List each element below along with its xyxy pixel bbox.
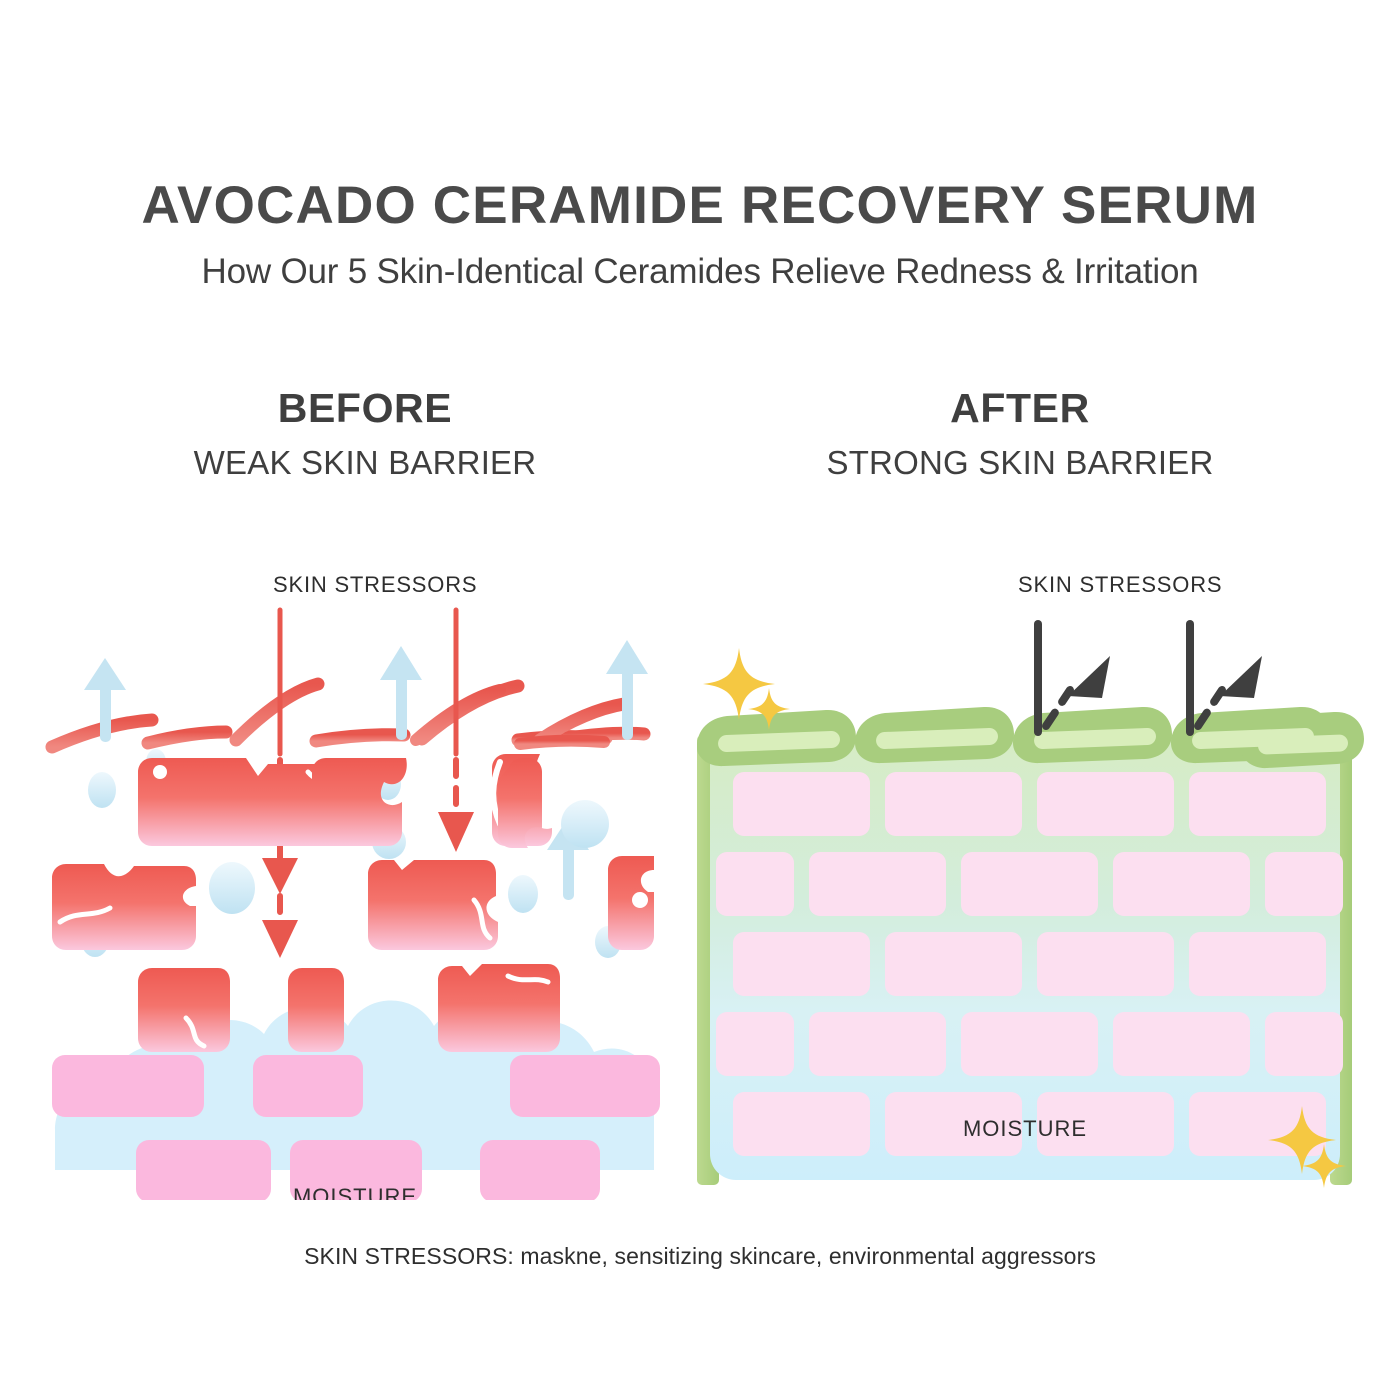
footer-note: SKIN STRESSORS: maskne, sensitizing skin… <box>0 1243 1400 1270</box>
after-brick <box>716 1012 794 1076</box>
after-brick <box>716 852 794 916</box>
page-subtitle: How Our 5 Skin-Identical Ceramides Relie… <box>0 252 1400 292</box>
after-brick <box>1189 772 1326 836</box>
before-subtitle: WEAK SKIN BARRIER <box>85 444 645 482</box>
before-brick-row-1 <box>138 754 552 848</box>
droplet-icon <box>209 862 255 914</box>
after-brick <box>885 932 1022 996</box>
after-brick <box>809 852 946 916</box>
after-barrier-cap <box>697 707 1364 768</box>
after-brick <box>1265 1012 1343 1076</box>
before-illustration: MOISTURE <box>52 610 660 1200</box>
before-title: BEFORE <box>85 385 645 432</box>
after-moisture-label: MOISTURE <box>963 1116 1087 1141</box>
after-brick <box>1113 852 1250 916</box>
droplet-icon <box>561 800 609 848</box>
after-brick <box>1113 1012 1250 1076</box>
infographic-canvas: AVOCADO CERAMIDE RECOVERY SERUM How Our … <box>0 0 1400 1400</box>
after-brick <box>885 772 1022 836</box>
after-brick <box>733 1092 870 1156</box>
after-brick <box>1037 772 1174 836</box>
after-brick <box>1265 852 1343 916</box>
after-illustration: MOISTURE <box>697 624 1364 1188</box>
after-brick <box>809 1012 946 1076</box>
up-arrow-icon <box>606 640 648 740</box>
before-panel-heading: BEFORE WEAK SKIN BARRIER <box>85 385 645 482</box>
page-title: AVOCADO CERAMIDE RECOVERY SERUM <box>0 178 1400 234</box>
before-moisture-label: MOISTURE <box>293 1184 417 1200</box>
after-brick <box>961 1012 1098 1076</box>
up-arrow-icon <box>380 646 422 740</box>
after-subtitle: STRONG SKIN BARRIER <box>740 444 1300 482</box>
header: AVOCADO CERAMIDE RECOVERY SERUM How Our … <box>0 178 1400 292</box>
droplet-icon <box>88 772 116 808</box>
after-brick <box>733 772 870 836</box>
after-title: AFTER <box>740 385 1300 432</box>
barrier-illustration: MOISTURE <box>0 540 1400 1200</box>
after-brick <box>1037 932 1174 996</box>
before-shallow-arrow <box>438 760 474 852</box>
after-brick <box>961 852 1098 916</box>
after-brick <box>733 932 870 996</box>
after-panel-heading: AFTER STRONG SKIN BARRIER <box>740 385 1300 482</box>
after-brick <box>1189 932 1326 996</box>
droplet-icon <box>508 875 538 913</box>
